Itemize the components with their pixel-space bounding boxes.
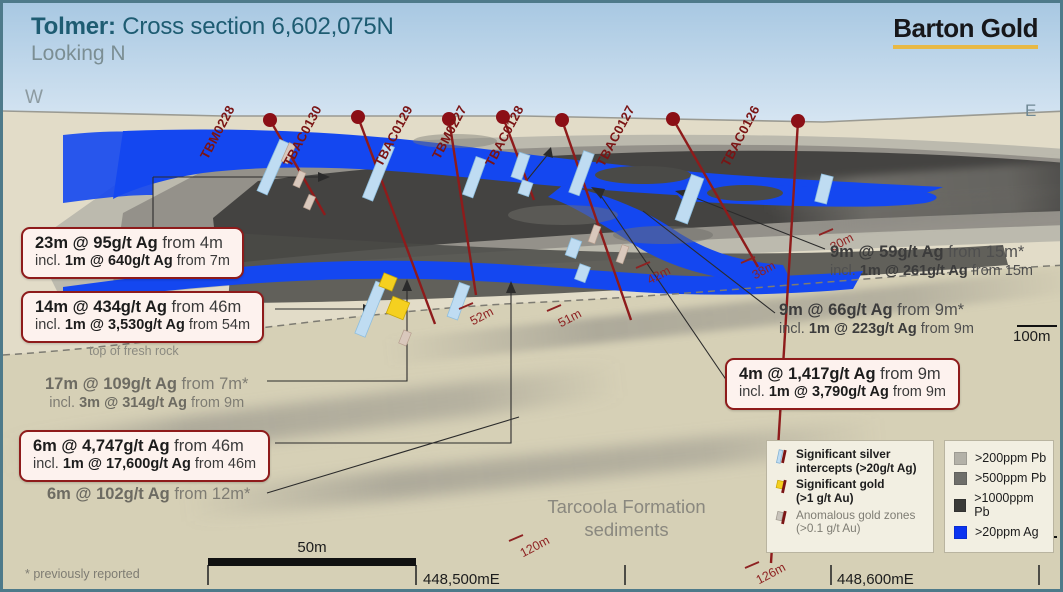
callout-4m-1417gt: 4m @ 1,417g/t Ag from 9m incl. 1m @ 3,79… (725, 358, 960, 410)
inclusion-3 (508, 205, 618, 225)
legend-line-2: intercepts (>20g/t Ag) (796, 461, 917, 475)
drill-hole-collar (351, 110, 365, 124)
callout-bold: 1m @ 261g/t Ag (860, 263, 968, 279)
swatch-pb200 (954, 452, 967, 465)
legend-line-1: Significant gold (796, 477, 884, 491)
callout-line-1: 17m @ 109g/t Ag from 7m* (45, 375, 248, 395)
callout-bold: 3m @ 314g/t Ag (79, 395, 187, 411)
compass-west-label: W (25, 87, 43, 109)
drill-hole-collar (791, 114, 805, 128)
callout-rest: from 9m (187, 395, 244, 411)
callout-bold: 1m @ 223g/t Ag (809, 321, 917, 337)
legend-label: >20ppm Ag (975, 525, 1039, 539)
legend-symbols: Significant silver intercepts (>20g/t Ag… (766, 440, 934, 553)
callout-bold: 1m @ 3,790g/t Ag (769, 384, 889, 400)
legend-label: >1000ppm Pb (974, 491, 1047, 519)
callout-rest: from 12m* (170, 485, 251, 503)
callout-rest: from 4m (158, 234, 223, 252)
callout-rest: from 9m (889, 384, 946, 400)
legend-item-gold: Significant gold (>1 g/t Au) (775, 478, 926, 505)
callout-rest: from 46m (191, 456, 256, 472)
ag-left-taper (63, 131, 153, 203)
callout-line-1: 23m @ 95g/t Ag from 4m (35, 234, 230, 253)
drill-hole-collar (555, 113, 569, 127)
callout-rest: from 15m* (944, 243, 1025, 261)
legend-line-1: Significant silver (796, 447, 890, 461)
swatch-pb1000 (954, 499, 966, 512)
callout-bold: 17m @ 109g/t Ag (45, 375, 177, 393)
legend-line-2: (>0.1 g/t Au) (796, 521, 861, 535)
callout-9m-59gt: 9m @ 59g/t Ag from 15m* incl. 1m @ 261g/… (830, 243, 1033, 280)
callout-bold: 1m @ 3,530g/t Ag (65, 317, 185, 333)
callout-line-1: 14m @ 434g/t Ag from 46m (35, 298, 250, 317)
scale-bar-fill (208, 558, 416, 566)
callout-pre: incl. (35, 253, 65, 269)
callout-bold: 6m @ 102g/t Ag (47, 485, 170, 503)
callout-rest: from 9m (876, 365, 941, 383)
top-of-fresh-rock-label: top of fresh rock (89, 344, 179, 358)
callout-pre: incl. (830, 263, 860, 279)
callout-17m-109gt: 17m @ 109g/t Ag from 7m* incl. 3m @ 314g… (45, 375, 248, 412)
callout-line-1: 6m @ 102g/t Ag from 12m* (47, 485, 250, 505)
footnote: * previously reported (25, 567, 140, 581)
inclusion-1 (595, 166, 691, 184)
callout-line-2: incl. 1m @ 3,790g/t Ag from 9m (739, 384, 946, 401)
callout-line-1: 9m @ 66g/t Ag from 9m* (779, 301, 974, 321)
legend-text: Significant gold (>1 g/t Au) (796, 478, 884, 505)
callout-23m-95gt: 23m @ 95g/t Ag from 4m incl. 1m @ 640g/t… (21, 227, 244, 279)
formation-line-1: Tarcoola Formation (519, 495, 734, 518)
callout-bold: 1m @ 17,600g/t Ag (63, 456, 191, 472)
callout-6m-102gt: 6m @ 102g/t Ag from 12m* (47, 485, 250, 505)
gold-intercept-icon (775, 479, 790, 494)
legend-colors: >200ppm Pb >500ppm Pb >1000ppm Pb >20ppm… (944, 440, 1054, 553)
callout-bold: 1m @ 640g/t Ag (65, 253, 173, 269)
depth-tick-100m (1017, 325, 1057, 327)
callout-bold: 6m @ 4,747g/t Ag (33, 437, 170, 455)
callout-rest: from 54m (185, 317, 250, 333)
legend-label: >200ppm Pb (975, 451, 1046, 465)
callout-pre: incl. (779, 321, 809, 337)
anomalous-gold-icon (775, 510, 790, 525)
easting-label-448600: 448,600mE (837, 571, 914, 588)
callout-line-2: incl. 1m @ 3,530g/t Ag from 54m (35, 317, 250, 334)
silver-intercept-icon (775, 449, 790, 464)
callout-9m-66gt: 9m @ 66g/t Ag from 9m* incl. 1m @ 223g/t… (779, 301, 974, 338)
legend-line-2: (>1 g/t Au) (796, 491, 854, 505)
legend-item-anomalous-gold: Anomalous gold zones (>0.1 g/t Au) (775, 509, 926, 536)
callout-rest: from 9m (917, 321, 974, 337)
brand-logo: Barton Gold (893, 13, 1038, 49)
scale-bar-label: 50m (208, 539, 416, 556)
easting-label-448500: 448,500mE (423, 571, 500, 588)
swatch-ag20 (954, 526, 967, 539)
callout-rest: from 46m (167, 298, 241, 316)
formation-label: Tarcoola Formation sediments (519, 495, 734, 541)
brand-underline (893, 45, 1038, 49)
legend-text: Significant silver intercepts (>20g/t Ag… (796, 448, 917, 475)
callout-rest: from 15m (968, 263, 1033, 279)
callout-6m-4747gt: 6m @ 4,747g/t Ag from 46m incl. 1m @ 17,… (19, 430, 270, 482)
callout-line-1: 6m @ 4,747g/t Ag from 46m (33, 437, 256, 456)
callout-bold: 23m @ 95g/t Ag (35, 234, 158, 252)
drill-hole-collar (666, 112, 680, 126)
legend-item-silver: Significant silver intercepts (>20g/t Ag… (775, 448, 926, 475)
swatch-pb500 (954, 472, 967, 485)
callout-line-2: incl. 1m @ 261g/t Ag from 15m (830, 263, 1033, 280)
legend-item-pb1000: >1000ppm Pb (954, 491, 1047, 519)
callout-line-2: incl. 1m @ 17,600g/t Ag from 46m (33, 456, 256, 473)
cross-section-figure: Tolmer: Cross section 6,602,075N Looking… (0, 0, 1063, 592)
callout-bold: 9m @ 59g/t Ag (830, 243, 944, 261)
callout-line-2: incl. 3m @ 314g/t Ag from 9m (45, 395, 248, 412)
callout-line-1: 9m @ 59g/t Ag from 15m* (830, 243, 1033, 263)
callout-line-1: 4m @ 1,417g/t Ag from 9m (739, 365, 946, 384)
drill-hole-collar (263, 113, 277, 127)
callout-line-2: incl. 1m @ 640g/t Ag from 7m (35, 253, 230, 270)
legend-label: >500ppm Pb (975, 471, 1046, 485)
brand-name: Barton Gold (893, 13, 1038, 44)
callout-pre: incl. (33, 456, 63, 472)
callout-bold: 4m @ 1,417g/t Ag (739, 365, 876, 383)
formation-line-2: sediments (519, 518, 734, 541)
legend-item-pb500: >500ppm Pb (954, 471, 1047, 485)
callout-pre: incl. (49, 395, 79, 411)
compass-east-label: E (1025, 101, 1036, 121)
legend-item-ag20: >20ppm Ag (954, 525, 1047, 539)
legend-item-pb200: >200ppm Pb (954, 451, 1047, 465)
legend-text: Anomalous gold zones (>0.1 g/t Au) (796, 509, 915, 536)
callout-pre: incl. (739, 384, 769, 400)
callout-bold: 9m @ 66g/t Ag (779, 301, 893, 319)
callout-rest: from 7m* (177, 375, 249, 393)
depth-label-100m: 100m (1013, 328, 1051, 345)
callout-bold: 14m @ 434g/t Ag (35, 298, 167, 316)
callout-rest: from 46m (170, 437, 244, 455)
scale-bar: 50m (208, 539, 416, 566)
callout-rest: from 9m* (893, 301, 965, 319)
legend-line-1: Anomalous gold zones (796, 508, 915, 522)
callout-line-2: incl. 1m @ 223g/t Ag from 9m (779, 321, 974, 338)
callout-14m-434gt: 14m @ 434g/t Ag from 46m incl. 1m @ 3,53… (21, 291, 264, 343)
callout-rest: from 7m (173, 253, 230, 269)
callout-pre: incl. (35, 317, 65, 333)
